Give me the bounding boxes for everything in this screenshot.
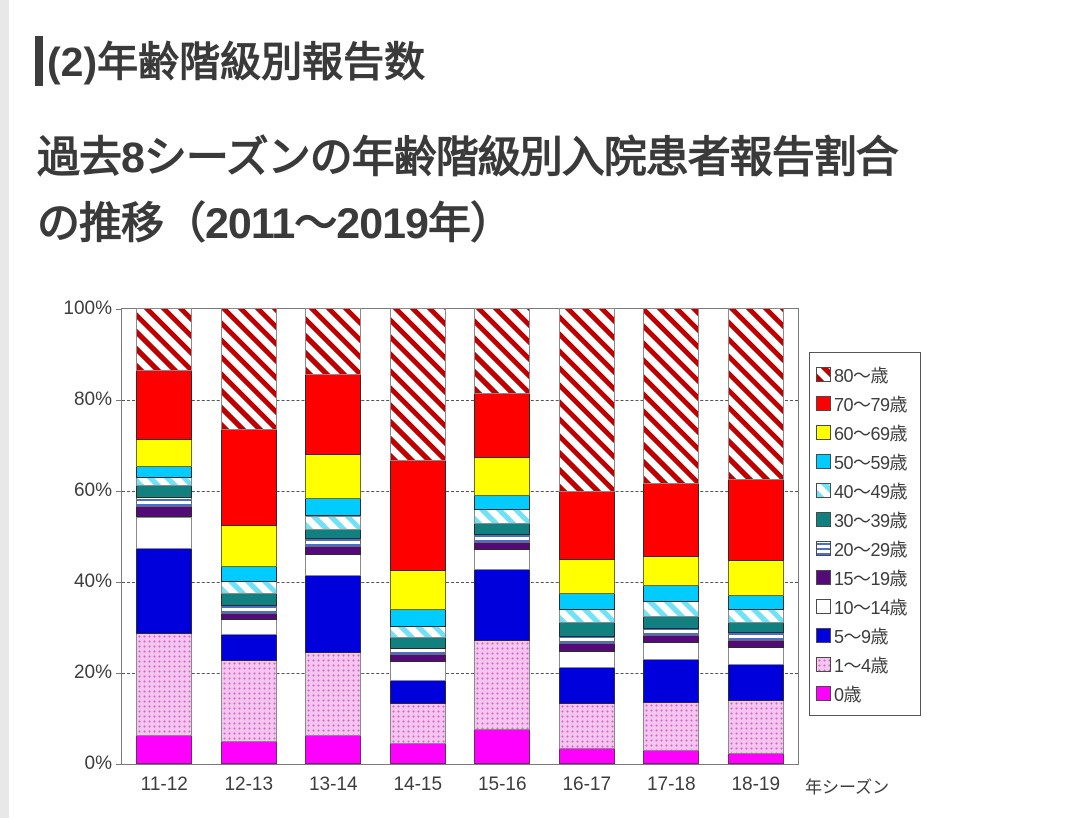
bar-segment[interactable] [221,593,277,605]
page-left-strip [0,0,9,818]
legend-item[interactable]: 10～14歳 [816,592,915,621]
bar-segment[interactable] [474,457,530,496]
y-axis-label: 40% [74,571,112,593]
y-axis-label: 60% [74,480,112,502]
legend-item[interactable]: 20～29歳 [816,534,915,563]
x-axis-label: 18-19 [731,774,780,796]
bar-column[interactable]: 13-14 [305,309,361,764]
bar-column[interactable]: 17-18 [643,309,699,764]
legend-swatch-icon [816,599,831,614]
bar-segment[interactable] [136,506,192,517]
page-title: (2)年齢階級別報告数 [35,36,425,88]
legend-item[interactable]: 5～9歳 [816,621,915,650]
legend-item[interactable]: 40～49歳 [816,476,915,505]
bar-segment[interactable] [221,308,277,430]
bar-segment[interactable] [474,509,530,524]
bar-segment[interactable] [559,667,615,703]
legend-label: 80～歳 [834,362,888,388]
bar-segment[interactable] [305,735,361,764]
legend-swatch-icon [816,396,831,411]
bar-segment[interactable] [474,542,530,550]
y-axis-label: 0% [85,753,112,775]
bar-segment[interactable] [136,497,192,508]
legend-item[interactable]: 0歳 [816,679,915,708]
bar-segment[interactable] [559,651,615,669]
legend-item[interactable]: 80～歳 [816,360,915,389]
bar-segment[interactable] [390,680,446,705]
legend-label: 15～19歳 [834,565,907,591]
bar-segment[interactable] [474,308,530,394]
chart-legend: 80～歳70～79歳60～69歳50～59歳40～49歳30～39歳20～29歳… [809,352,921,716]
bar-segment[interactable] [390,637,446,649]
bar-segment[interactable] [136,633,192,736]
bar-segment[interactable] [474,549,530,570]
bar-segment[interactable] [390,648,446,655]
bar-segment[interactable] [305,308,361,375]
bar-segment[interactable] [643,616,699,629]
bar-segment[interactable] [559,593,615,610]
x-axis-unit-label: 年シーズン [805,773,889,798]
chart-plot-area: 0%20%40%60%80%100%11-1212-1313-1414-1515… [121,308,799,765]
legend-item[interactable]: 70～79歳 [816,389,915,418]
bar-column[interactable]: 18-19 [728,309,784,764]
bar-segment[interactable] [559,491,615,560]
legend-label: 40～49歳 [834,478,907,504]
x-axis-label: 15-16 [478,774,527,796]
legend-swatch-icon [816,657,831,672]
bar-segment[interactable] [136,439,192,467]
bar-segment[interactable] [643,556,699,586]
y-axis-label: 20% [74,662,112,684]
y-axis-tick [116,582,122,583]
bar-segment[interactable] [390,654,446,662]
legend-swatch-icon [816,425,831,440]
bar-segment[interactable] [474,534,530,543]
bar-segment[interactable] [728,609,784,623]
bar-segment[interactable] [728,622,784,633]
bar-segment[interactable] [559,622,615,636]
bar-segment[interactable] [559,636,615,645]
bar-segment[interactable] [136,466,192,478]
bar-segment[interactable] [728,595,784,610]
legend-item[interactable]: 1～4歳 [816,650,915,679]
bar-segment[interactable] [221,581,277,594]
bar-segment[interactable] [221,429,277,526]
bar-segment[interactable] [390,308,446,461]
y-axis-tick [116,764,122,765]
legend-label: 20～29歳 [834,536,907,562]
x-axis-label: 13-14 [309,774,358,796]
bar-segment[interactable] [305,538,361,547]
bar-segment[interactable] [643,702,699,751]
bar-segment[interactable] [221,605,277,614]
page-subtitle: 過去8シーズンの年齢階級別入院患者報告割合の推移（2011～2019年） [37,125,917,257]
legend-label: 1～4歳 [834,652,888,678]
x-axis-label: 11-12 [141,774,188,796]
bar-segment[interactable] [474,523,530,535]
bar-segment[interactable] [305,554,361,576]
bar-segment[interactable] [136,370,192,440]
x-axis-label: 16-17 [562,774,611,796]
bar-segment[interactable] [728,647,784,665]
bar-segment[interactable] [474,729,530,764]
legend-swatch-icon [816,512,831,527]
bar-segment[interactable] [474,495,530,511]
legend-label: 0歳 [834,681,861,707]
bar-segment[interactable] [221,525,277,567]
bar-segment[interactable] [136,485,192,498]
bar-segment[interactable] [728,632,784,641]
bar-segment[interactable] [305,454,361,500]
y-axis-tick [116,400,122,401]
bar-segment[interactable] [136,548,192,634]
bar-segment[interactable] [221,660,277,742]
legend-item[interactable]: 60～69歳 [816,418,915,447]
bar-segment[interactable] [390,609,446,627]
bar-segment[interactable] [559,748,615,764]
bar-segment[interactable] [221,634,277,661]
bar-segment[interactable] [643,483,699,557]
bar-segment[interactable] [305,374,361,455]
y-axis-label: 100% [63,298,112,320]
bar-column[interactable]: 11-12 [136,309,192,764]
bar-segment[interactable] [305,546,361,555]
bar-segment[interactable] [305,575,361,653]
y-axis-tick [116,309,122,310]
bar-segment[interactable] [728,479,784,561]
legend-swatch-icon [816,541,831,556]
bar-segment[interactable] [390,570,446,610]
bar-segment[interactable] [559,559,615,594]
legend-swatch-icon [816,454,831,469]
bar-segment[interactable] [221,566,277,582]
y-axis-label: 80% [74,389,112,411]
legend-swatch-icon [816,570,831,585]
bar-segment[interactable] [474,393,530,458]
bar-segment[interactable] [474,640,530,731]
bar-column[interactable]: 16-17 [559,309,615,764]
bar-segment[interactable] [728,664,784,700]
legend-label: 10～14歳 [834,594,907,620]
legend-label: 70～79歳 [834,391,907,417]
legend-swatch-icon [816,628,831,643]
bar-segment[interactable] [221,613,277,620]
bar-segment[interactable] [728,560,784,596]
bar-segment[interactable] [136,517,192,549]
bar-column[interactable]: 15-16 [474,309,530,764]
x-axis-label: 17-18 [647,774,696,796]
legend-label: 30～39歳 [834,507,907,533]
y-axis-tick [116,491,122,492]
legend-label: 5～9歳 [834,623,888,649]
bar-column[interactable]: 14-15 [390,309,446,764]
bar-segment[interactable] [643,642,699,660]
bar-segment[interactable] [390,661,446,681]
bar-segment[interactable] [390,626,446,639]
bar-segment[interactable] [643,659,699,702]
legend-swatch-icon [816,686,831,701]
bar-segment[interactable] [221,741,277,764]
legend-item[interactable]: 50～59歳 [816,447,915,476]
bar-segment[interactable] [728,753,784,764]
bar-segment[interactable] [559,703,615,749]
bar-segment[interactable] [559,643,615,651]
bar-segment[interactable] [643,750,699,764]
bar-segment[interactable] [559,609,615,623]
bar-segment[interactable] [390,743,446,764]
slide-canvas: (2)年齢階級別報告数 過去8シーズンの年齢階級別入院患者報告割合の推移（201… [9,0,1080,818]
bar-segment[interactable] [305,652,361,736]
y-axis-tick [116,673,122,674]
x-axis-label: 14-15 [393,774,442,796]
legend-label: 50～59歳 [834,449,907,475]
bar-segment[interactable] [390,460,446,570]
bar-segment[interactable] [221,619,277,635]
bar-segment[interactable] [136,308,192,371]
bar-column[interactable]: 12-13 [221,309,277,764]
bar-segment[interactable] [643,628,699,636]
legend-label: 60～69歳 [834,420,907,446]
bar-segment[interactable] [390,703,446,744]
bar-segment[interactable] [305,498,361,516]
bar-segment[interactable] [305,516,361,530]
bar-segment[interactable] [305,529,361,540]
legend-item[interactable]: 30～39歳 [816,505,915,534]
bar-segment[interactable] [559,308,615,492]
title-text: (2)年齢階級別報告数 [47,36,425,88]
bar-segment[interactable] [136,477,192,485]
bar-segment[interactable] [643,308,699,484]
bar-segment[interactable] [643,635,699,643]
bar-segment[interactable] [136,735,192,764]
legend-item[interactable]: 15～19歳 [816,563,915,592]
chart-container: 0%20%40%60%80%100%11-1212-1313-1414-1515… [9,280,1080,818]
bar-segment[interactable] [643,585,699,602]
title-accent-bar [35,36,43,86]
legend-swatch-icon [816,483,831,498]
bar-segment[interactable] [728,308,784,480]
bar-segment[interactable] [474,569,530,641]
bar-segment[interactable] [643,601,699,617]
x-axis-label: 12-13 [224,774,273,796]
bar-segment[interactable] [728,640,784,649]
bar-segment[interactable] [728,700,784,754]
legend-swatch-icon [816,367,831,382]
